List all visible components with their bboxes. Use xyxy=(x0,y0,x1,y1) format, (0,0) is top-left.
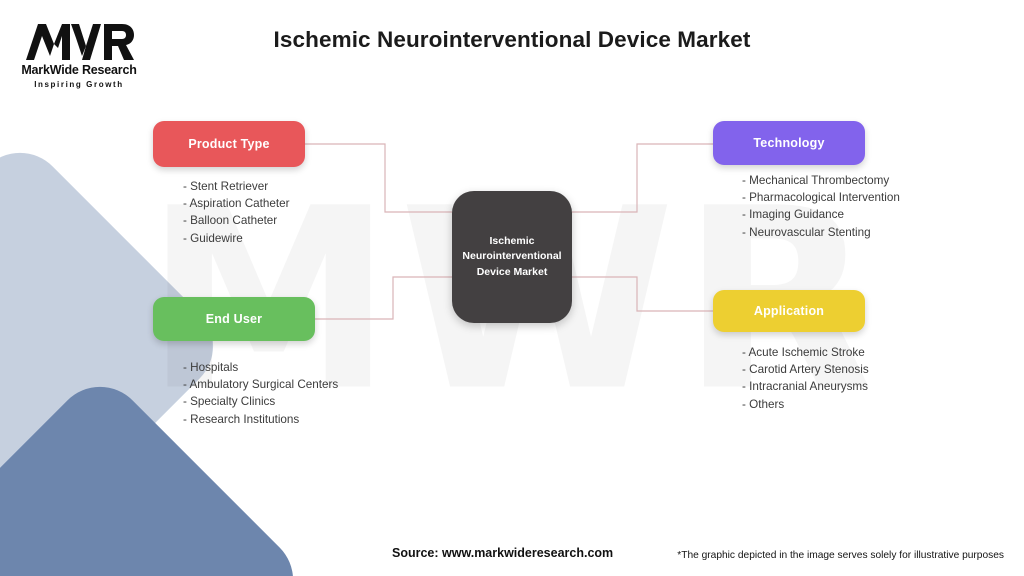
list-item: - Hospitals xyxy=(183,359,338,376)
list-item: - Aspiration Catheter xyxy=(183,195,290,212)
node-product-type-label: Product Type xyxy=(188,137,269,151)
list-item: - Stent Retriever xyxy=(183,178,290,195)
list-item: - Imaging Guidance xyxy=(742,206,900,223)
brand-name: MarkWide Research xyxy=(18,64,140,78)
connector-end-user xyxy=(315,277,452,319)
list-item: - Balloon Catheter xyxy=(183,212,290,229)
disclaimer-label: *The graphic depicted in the image serve… xyxy=(677,550,1004,561)
list-item: - Ambulatory Surgical Centers xyxy=(183,376,338,393)
list-item: - Specialty Clinics xyxy=(183,393,338,410)
connector-product-type xyxy=(305,144,452,212)
list-item: - Carotid Artery Stenosis xyxy=(742,361,869,378)
list-end-user: - Hospitals - Ambulatory Surgical Center… xyxy=(183,359,338,428)
node-end-user-label: End User xyxy=(206,312,262,326)
center-node-label: Ischemic Neurointerventional Device Mark… xyxy=(460,234,564,280)
list-technology: - Mechanical Thrombectomy - Pharmacologi… xyxy=(742,172,900,241)
list-item: - Others xyxy=(742,396,869,413)
node-technology-label: Technology xyxy=(753,136,824,150)
page-title: Ischemic Neurointerventional Device Mark… xyxy=(0,27,1024,53)
list-application: - Acute Ischemic Stroke - Carotid Artery… xyxy=(742,344,869,413)
source-label: Source: www.markwideresearch.com xyxy=(392,546,613,560)
list-item: - Research Institutions xyxy=(183,411,338,428)
node-product-type[interactable]: Product Type xyxy=(153,121,305,167)
list-item: - Neurovascular Stenting xyxy=(742,224,900,241)
brand-tagline: Inspiring Growth xyxy=(18,80,140,89)
connector-technology xyxy=(572,144,713,212)
list-item: - Acute Ischemic Stroke xyxy=(742,344,869,361)
node-application-label: Application xyxy=(754,304,824,318)
center-node[interactable]: Ischemic Neurointerventional Device Mark… xyxy=(452,191,572,323)
node-technology[interactable]: Technology xyxy=(713,121,865,165)
node-application[interactable]: Application xyxy=(713,290,865,332)
list-item: - Guidewire xyxy=(183,230,290,247)
list-product-type: - Stent Retriever - Aspiration Catheter … xyxy=(183,178,290,247)
list-item: - Intracranial Aneurysms xyxy=(742,378,869,395)
connector-application xyxy=(572,277,713,311)
node-end-user[interactable]: End User xyxy=(153,297,315,341)
list-item: - Mechanical Thrombectomy xyxy=(742,172,900,189)
infographic-canvas: MWR MarkWide Research Inspiring Growth I… xyxy=(0,0,1024,576)
list-item: - Pharmacological Intervention xyxy=(742,189,900,206)
